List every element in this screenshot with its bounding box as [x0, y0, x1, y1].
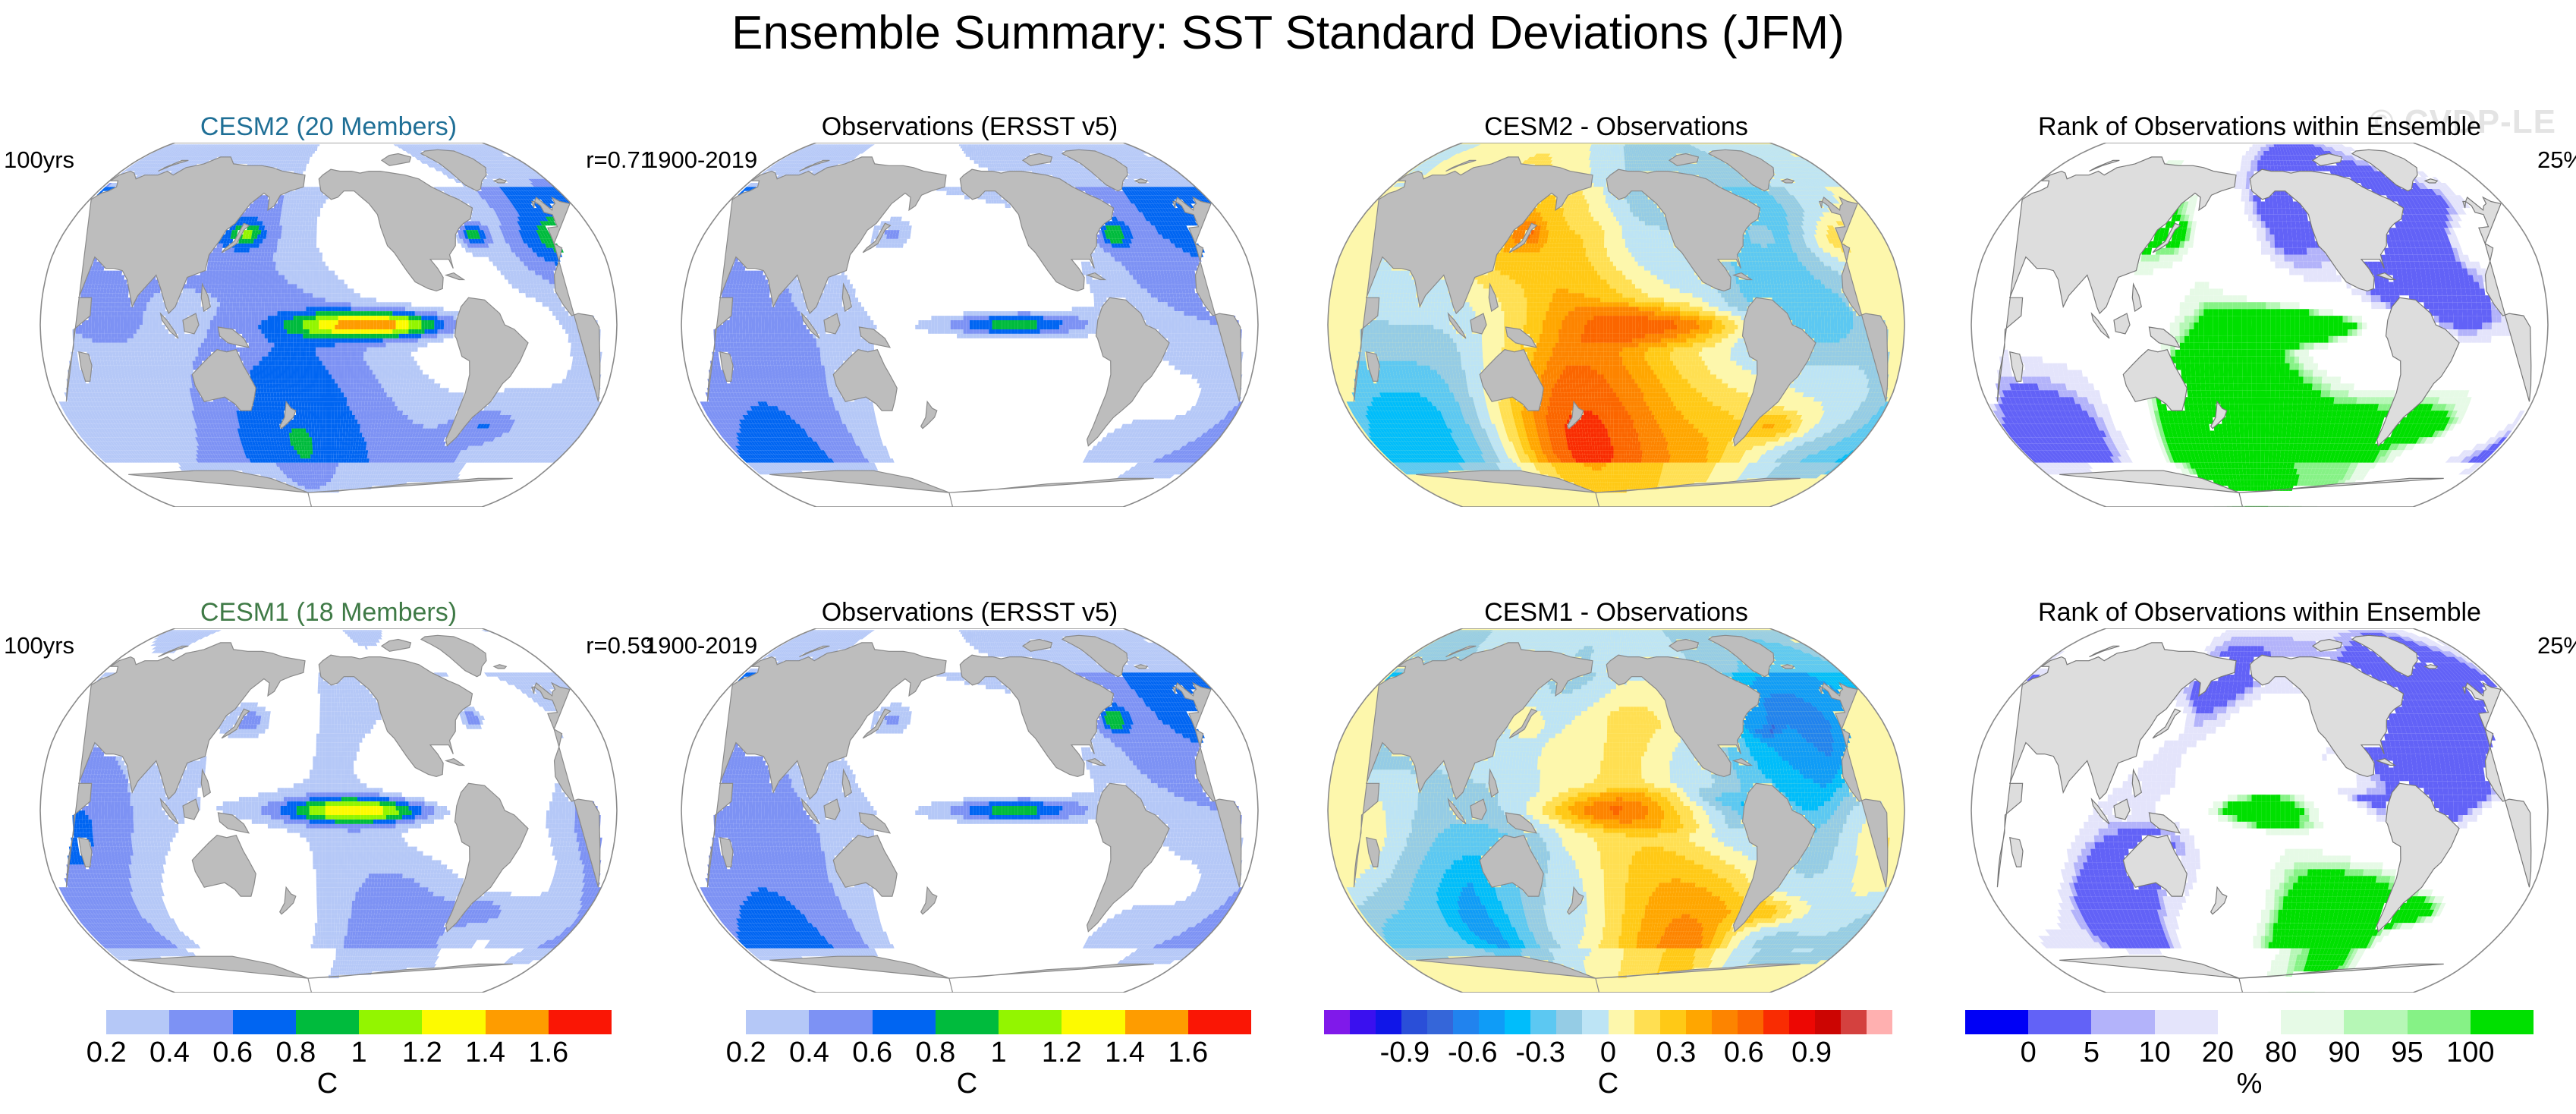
cbar-rank-strip	[1965, 1010, 2534, 1034]
cbar-std-right-swatch-2	[809, 1010, 872, 1034]
cbar-diff-swatch-0	[1324, 1010, 1350, 1034]
cbar-std-left-swatch-6	[422, 1010, 485, 1034]
cbar-std-right-swatch-7	[1125, 1010, 1188, 1034]
cbar-std-right: 0.20.40.60.811.21.41.6C	[683, 1010, 1251, 1109]
cbar-std-right-swatch-8	[1188, 1010, 1251, 1034]
cbar-std-left-swatch-3	[233, 1010, 296, 1034]
cbar-diff-tick-4: 0.3	[1656, 1036, 1696, 1069]
map-canvas-cesm1-std	[11, 628, 646, 993]
cbar-diff-swatch-8	[1530, 1010, 1556, 1034]
cbar-std-right-swatch-0	[683, 1010, 746, 1034]
cbar-std-left-tick-5: 1.2	[402, 1036, 442, 1069]
cbar-std-left-swatch-1	[106, 1010, 169, 1034]
cbar-std-left-swatch-7	[486, 1010, 549, 1034]
cbar-diff-swatch-12	[1634, 1010, 1660, 1034]
cbar-diff-swatch-4	[1427, 1010, 1453, 1034]
panel-title-obs-std-top: Observations (ERSST v5)	[653, 112, 1287, 141]
cbar-rank-swatch-3	[2155, 1010, 2218, 1034]
cbar-diff-swatch-19	[1815, 1010, 1841, 1034]
cbar-diff-swatch-1	[1350, 1010, 1376, 1034]
cbar-diff-tick-1: -0.6	[1448, 1036, 1497, 1069]
cbar-diff-swatch-16	[1738, 1010, 1763, 1034]
cbar-rank-tick-1: 5	[2084, 1036, 2099, 1069]
cbar-std-right-swatch-3	[873, 1010, 936, 1034]
cbar-std-left-tick-2: 0.6	[212, 1036, 253, 1069]
cbar-std-left-swatch-0	[43, 1010, 106, 1034]
map-panel-obs-std-top: Observations (ERSST v5)1900-2019	[653, 112, 1287, 522]
cbar-std-right-swatch-5	[999, 1010, 1062, 1034]
cbar-rank-swatch-2	[2091, 1010, 2154, 1034]
cbar-std-left-tick-3: 0.8	[275, 1036, 316, 1069]
cbar-std-left-unit: C	[43, 1068, 612, 1100]
cbar-diff-swatch-9	[1556, 1010, 1582, 1034]
map-canvas-obs-std-top	[653, 143, 1287, 507]
cbar-rank-tick-7: 100	[2446, 1036, 2494, 1069]
cbar-std-right-ticks: 0.20.40.60.811.21.41.6	[683, 1036, 1251, 1069]
cbar-diff-swatch-14	[1686, 1010, 1712, 1034]
map-panel-cesm1-minus-obs: CESM1 - Observations	[1299, 598, 1933, 1008]
map-canvas-rank-top	[1942, 143, 2576, 507]
cbar-diff-strip	[1324, 1010, 1892, 1034]
cbar-diff-tick-0: -0.9	[1380, 1036, 1430, 1069]
cbar-std-right-tick-3: 0.8	[915, 1036, 955, 1069]
map-panel-rank-top: Rank of Observations within Ensemble25%	[1942, 112, 2576, 522]
cbar-std-right-tick-2: 0.6	[852, 1036, 892, 1069]
cbar-std-right-swatch-6	[1062, 1010, 1124, 1034]
cbar-std-right-tick-5: 1.2	[1042, 1036, 1082, 1069]
cbar-rank-tick-6: 95	[2391, 1036, 2423, 1069]
map-canvas-rank-bottom	[1942, 628, 2576, 993]
panel-title-rank-top: Rank of Observations within Ensemble	[1942, 112, 2576, 141]
panel-title-rank-bottom: Rank of Observations within Ensemble	[1942, 598, 2576, 627]
cbar-diff-tick-5: 0.6	[1724, 1036, 1764, 1069]
cbar-rank-swatch-7	[2408, 1010, 2471, 1034]
cbar-diff-swatch-21	[1867, 1010, 1892, 1034]
map-canvas-obs-std-bottom	[653, 628, 1287, 993]
map-canvas-cesm1-minus-obs	[1299, 628, 1933, 993]
cbar-diff-swatch-18	[1789, 1010, 1815, 1034]
cbar-diff-swatch-20	[1841, 1010, 1867, 1034]
panel-title-obs-std-bottom: Observations (ERSST v5)	[653, 598, 1287, 627]
cbar-rank-swatch-6	[2344, 1010, 2407, 1034]
cbar-rank-swatch-5	[2281, 1010, 2344, 1034]
map-panel-cesm2-std: CESM2 (20 Members)100yrsr=0.71	[11, 112, 646, 522]
cbar-std-right-tick-4: 1	[991, 1036, 1007, 1069]
cbar-diff-swatch-10	[1582, 1010, 1608, 1034]
cbar-diff-swatch-15	[1712, 1010, 1738, 1034]
page-title: Ensemble Summary: SST Standard Deviation…	[0, 6, 2576, 60]
cbar-diff-tick-3: 0	[1600, 1036, 1616, 1069]
cbar-diff-swatch-17	[1763, 1010, 1789, 1034]
cbar-rank-tick-3: 20	[2202, 1036, 2234, 1069]
cbar-diff-ticks: -0.9-0.6-0.300.30.60.9	[1324, 1036, 1892, 1069]
cbar-rank-unit: %	[1965, 1068, 2534, 1100]
cbar-std-left-swatch-2	[169, 1010, 232, 1034]
cbar-std-right-tick-0: 0.2	[726, 1036, 766, 1069]
cbar-diff-swatch-5	[1453, 1010, 1479, 1034]
cbar-std-right-tick-1: 0.4	[789, 1036, 829, 1069]
cbar-std-left-ticks: 0.20.40.60.811.21.41.6	[43, 1036, 612, 1069]
panel-title-cesm1-minus-obs: CESM1 - Observations	[1299, 598, 1933, 627]
cbar-diff-swatch-11	[1609, 1010, 1634, 1034]
map-canvas-cesm2-std	[11, 143, 646, 507]
cbar-rank: 051020809095100%	[1965, 1010, 2534, 1109]
map-panel-cesm2-minus-obs: CESM2 - Observations	[1299, 112, 1933, 522]
cbar-rank-ticks: 051020809095100	[1965, 1036, 2534, 1069]
cbar-rank-tick-2: 10	[2139, 1036, 2171, 1069]
map-canvas-cesm2-minus-obs	[1299, 143, 1933, 507]
figure-root: Ensemble Summary: SST Standard Deviation…	[0, 0, 2576, 1114]
cbar-diff-swatch-6	[1479, 1010, 1505, 1034]
cbar-std-right-tick-7: 1.6	[1168, 1036, 1208, 1069]
cbar-diff-swatch-13	[1660, 1010, 1686, 1034]
cbar-rank-swatch-8	[2471, 1010, 2534, 1034]
cbar-std-right-strip	[683, 1010, 1251, 1034]
cbar-std-left-tick-0: 0.2	[86, 1036, 127, 1069]
cbar-std-left-swatch-8	[549, 1010, 612, 1034]
cbar-std-right-swatch-1	[746, 1010, 809, 1034]
cbar-rank-tick-5: 90	[2328, 1036, 2360, 1069]
cbar-rank-swatch-0	[1965, 1010, 2028, 1034]
cbar-diff-swatch-7	[1505, 1010, 1530, 1034]
cbar-diff-tick-6: 0.9	[1791, 1036, 1832, 1069]
panel-title-cesm2-std: CESM2 (20 Members)	[11, 112, 646, 141]
cbar-std-left-tick-7: 1.6	[528, 1036, 568, 1069]
cbar-std-left-tick-4: 1	[351, 1036, 367, 1069]
cbar-diff: -0.9-0.6-0.300.30.60.9C	[1324, 1010, 1892, 1109]
map-panel-cesm1-std: CESM1 (18 Members)100yrsr=0.59	[11, 598, 646, 1008]
cbar-std-right-swatch-4	[936, 1010, 999, 1034]
cbar-diff-unit: C	[1324, 1068, 1892, 1100]
cbar-rank-tick-4: 80	[2265, 1036, 2297, 1069]
cbar-std-left-tick-1: 0.4	[149, 1036, 190, 1069]
cbar-std-left: 0.20.40.60.811.21.41.6C	[43, 1010, 612, 1109]
cbar-rank-tick-0: 0	[2021, 1036, 2037, 1069]
cbar-std-right-tick-6: 1.4	[1105, 1036, 1145, 1069]
cbar-std-left-tick-6: 1.4	[465, 1036, 505, 1069]
map-panel-rank-bottom: Rank of Observations within Ensemble25%	[1942, 598, 2576, 1008]
cbar-rank-swatch-4	[2218, 1010, 2281, 1034]
cbar-std-right-unit: C	[683, 1068, 1251, 1100]
cbar-diff-swatch-2	[1376, 1010, 1401, 1034]
panel-title-cesm2-minus-obs: CESM2 - Observations	[1299, 112, 1933, 141]
cbar-diff-swatch-3	[1401, 1010, 1427, 1034]
cbar-std-left-swatch-5	[359, 1010, 422, 1034]
cbar-std-left-strip	[43, 1010, 612, 1034]
cbar-diff-tick-2: -0.3	[1515, 1036, 1565, 1069]
panel-title-cesm1-std: CESM1 (18 Members)	[11, 598, 646, 627]
cbar-rank-swatch-1	[2028, 1010, 2091, 1034]
cbar-std-left-swatch-4	[296, 1010, 359, 1034]
map-panel-obs-std-bottom: Observations (ERSST v5)1900-2019	[653, 598, 1287, 1008]
